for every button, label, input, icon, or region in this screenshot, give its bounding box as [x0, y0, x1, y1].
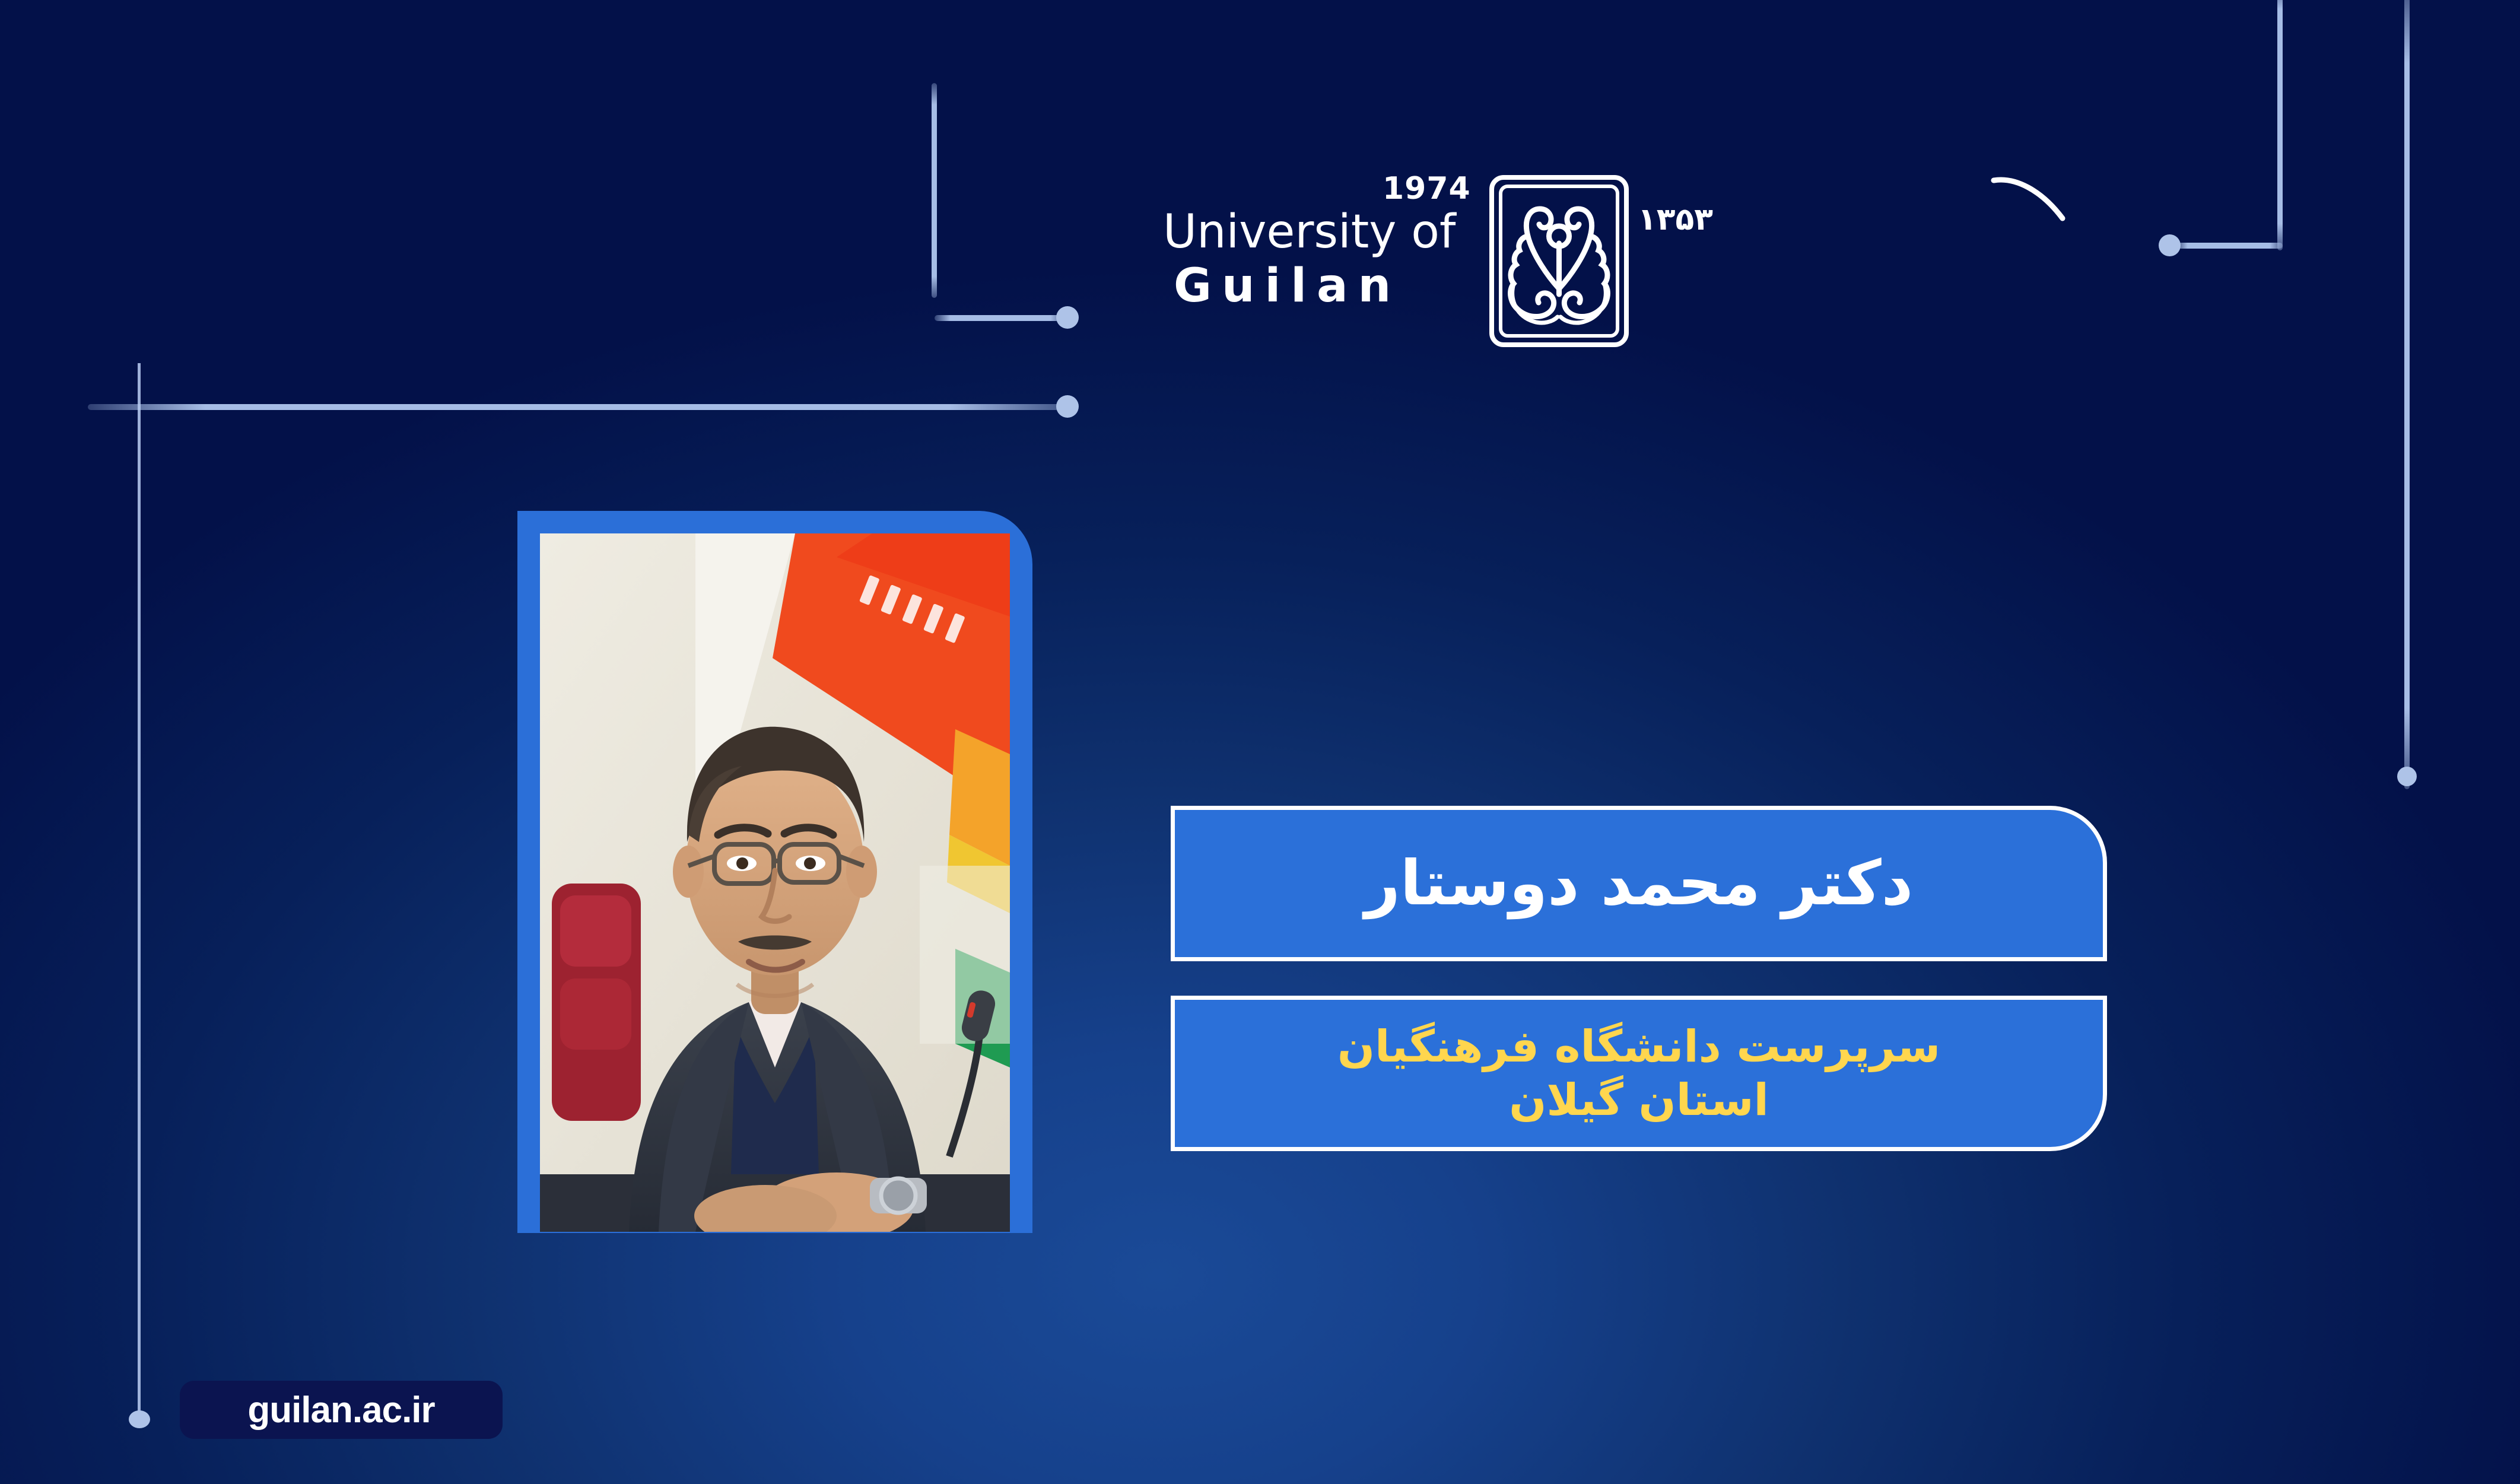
guilan-university-emblem-icon	[1486, 172, 1632, 350]
portrait-frame	[517, 511, 1032, 1233]
deco-vertical-line-upper-mid	[932, 83, 937, 298]
logo-persian-name-text: دانشگاه گیلان	[2084, 209, 2089, 300]
logo-english-line1: University of	[1163, 206, 1472, 258]
poster-canvas: 1974 University of Guilan ۱۳۵۳ دانشگاه	[0, 0, 2520, 1484]
deco-dot-upper	[1056, 306, 1079, 329]
deco-dot-top-right	[2159, 234, 2181, 256]
deco-vertical-line-left	[138, 363, 141, 1418]
deco-horizontal-line-long	[88, 404, 1067, 410]
deco-vertical-line-right-inner	[2277, 0, 2283, 250]
deco-dot-right	[2397, 767, 2417, 786]
website-badge[interactable]: guilan.ac.ir	[180, 1381, 503, 1439]
deco-dot-bottom-left	[129, 1410, 150, 1428]
logo-english-line2: Guilan	[1163, 258, 1472, 314]
person-title-box: سرپرست دانشگاه فرهنگیان استان گیلان	[1171, 996, 2107, 1151]
person-name: دکتر محمد دوستار	[1365, 848, 1913, 919]
university-logo: 1974 University of Guilan ۱۳۵۳ دانشگاه	[1163, 196, 2089, 374]
logo-year-gregorian: 1974	[1383, 171, 1471, 206]
website-url: guilan.ac.ir	[247, 1389, 434, 1431]
deco-horizontal-line-upper	[935, 315, 1066, 321]
deco-vertical-line-right-outer	[2404, 0, 2410, 789]
logo-persian-name: دانشگاه گیلان	[1685, 154, 2089, 338]
deco-horizontal-line-top-right	[2175, 243, 2283, 249]
deco-dot-long-line	[1056, 395, 1079, 418]
avatar	[540, 533, 1010, 1232]
person-title: سرپرست دانشگاه فرهنگیان استان گیلان	[1314, 1020, 1964, 1127]
logo-english-name: University of Guilan	[1163, 206, 1472, 314]
person-title-line2: استان گیلان	[1337, 1073, 1940, 1127]
person-title-line1: سرپرست دانشگاه فرهنگیان	[1337, 1020, 1940, 1073]
person-name-box: دکتر محمد دوستار	[1171, 806, 2107, 961]
